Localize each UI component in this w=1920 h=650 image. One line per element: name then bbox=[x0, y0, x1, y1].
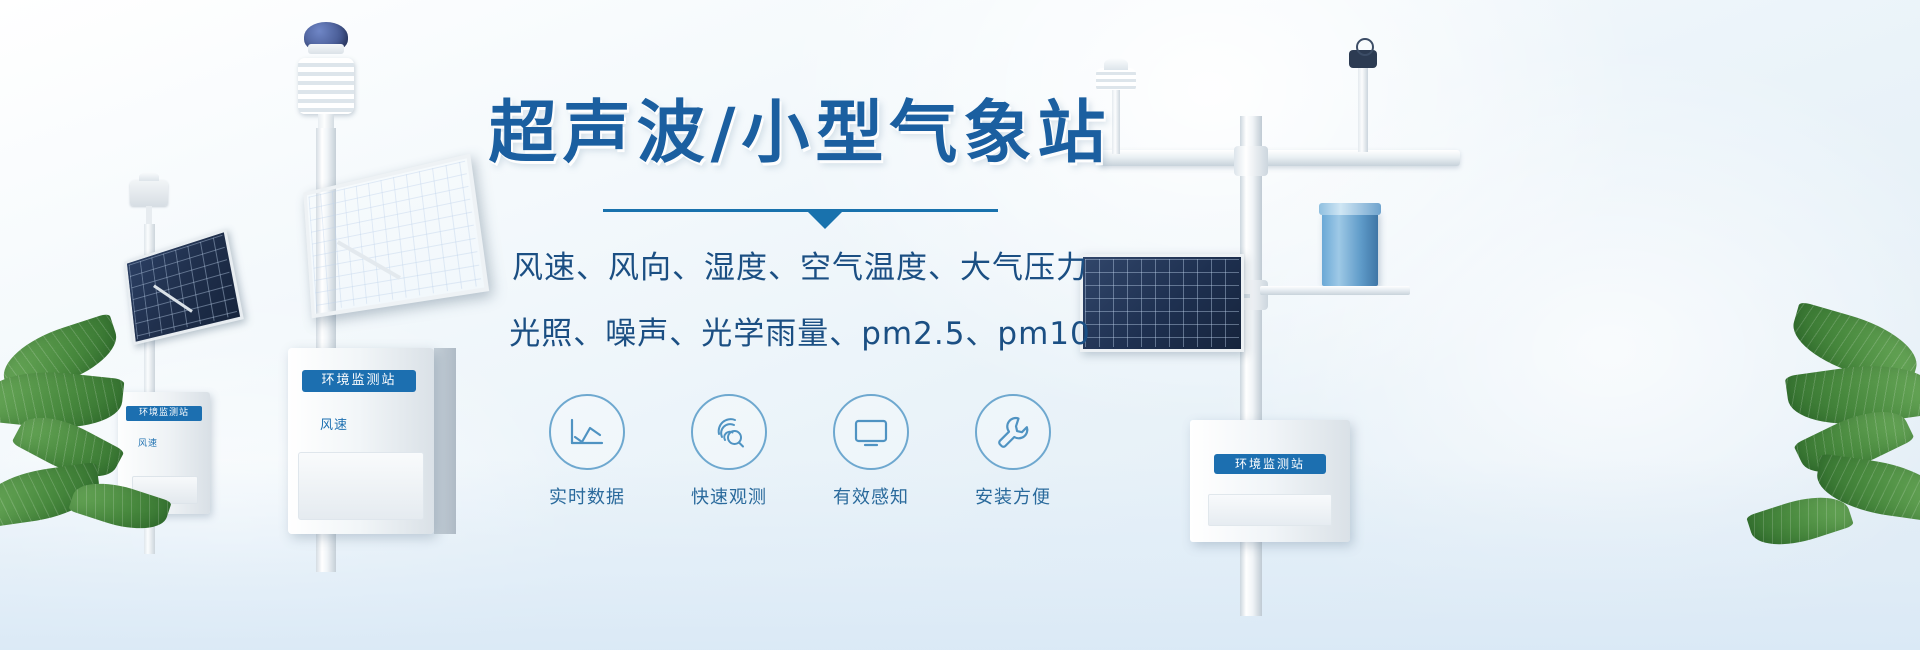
radiation-shield-sensor-icon bbox=[1096, 68, 1136, 90]
cabinet-vent-panel bbox=[1208, 494, 1332, 526]
cabinet-badge: 环境监测站 bbox=[302, 370, 416, 392]
feature-item-rapid-observation[interactable]: 快速观测 bbox=[679, 394, 779, 509]
feature-item-realtime-data[interactable]: 实时数据 bbox=[537, 394, 637, 509]
foliage-left bbox=[0, 0, 220, 650]
pole-collar-upper bbox=[1234, 146, 1268, 176]
feature-label: 实时数据 bbox=[537, 483, 637, 509]
feature-item-effective-sensing[interactable]: 有效感知 bbox=[821, 394, 921, 509]
divider-line bbox=[603, 209, 998, 212]
control-cabinet: 环境监测站 风速 bbox=[288, 348, 434, 534]
down-triangle-icon bbox=[808, 212, 842, 229]
feature-item-easy-installation[interactable]: 安装方便 bbox=[963, 394, 1063, 509]
wrench-icon bbox=[975, 394, 1051, 470]
cabinet-door-panel bbox=[298, 452, 424, 520]
banner-content: 超声波/小型气象站 风速、风向、湿度、空气温度、大气压力 光照、噪声、光学雨量、… bbox=[440, 96, 1160, 509]
page-title: 超声波/小型气象站 bbox=[440, 96, 1160, 172]
rain-gauge bbox=[1322, 210, 1378, 286]
cabinet-badge: 环境监测站 bbox=[1214, 454, 1326, 474]
subtitle-line-1: 风速、风向、湿度、空气温度、大气压力 bbox=[440, 244, 1160, 292]
foliage-right bbox=[1660, 0, 1920, 650]
anemometer-icon bbox=[1358, 56, 1368, 152]
monitor-screen-icon bbox=[833, 394, 909, 470]
cabinet-brand-label: 风速 bbox=[320, 414, 348, 433]
product-banner: 环境监测站 风速 环境监测站 风速 环境监测站 bbox=[0, 0, 1920, 650]
equipment-shelf bbox=[1260, 286, 1410, 295]
ultrasonic-sensor-dome-icon bbox=[304, 22, 348, 52]
subtitle-line-2: 光照、噪声、光学雨量、pm2.5、pm10 bbox=[440, 310, 1160, 358]
feature-label: 安装方便 bbox=[963, 483, 1063, 509]
feature-label: 有效感知 bbox=[821, 483, 921, 509]
feature-list: 实时数据 快速观测 bbox=[440, 394, 1160, 509]
title-divider bbox=[603, 206, 998, 226]
control-cabinet: 环境监测站 bbox=[1190, 420, 1350, 542]
feature-label: 快速观测 bbox=[679, 483, 779, 509]
radar-signal-icon bbox=[691, 394, 767, 470]
line-chart-icon bbox=[549, 394, 625, 470]
radiation-shield-stack bbox=[298, 58, 354, 114]
